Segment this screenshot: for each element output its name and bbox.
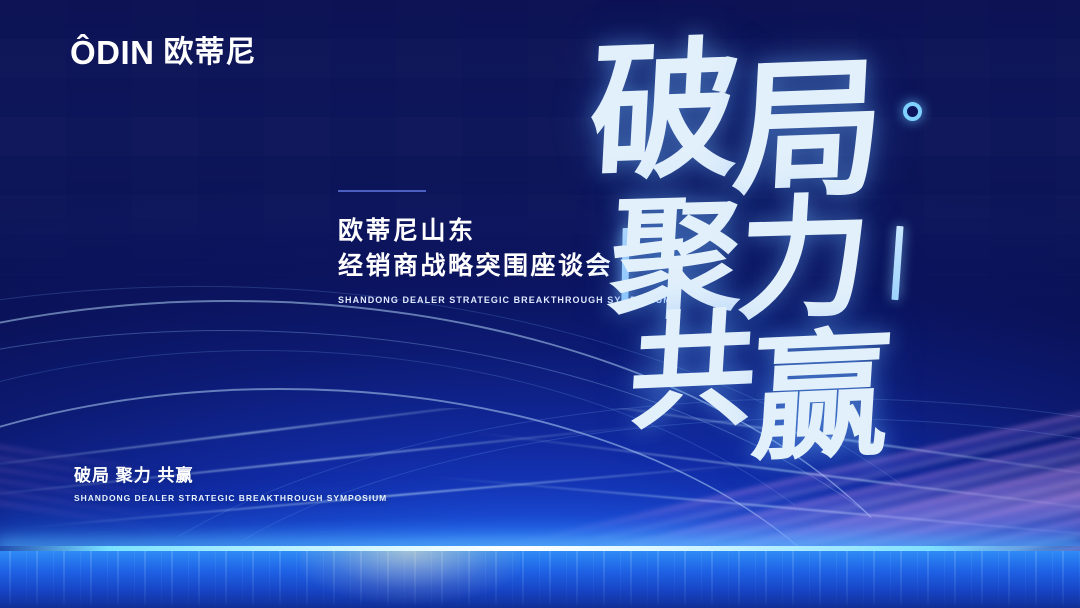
- headline-char-gong: 共: [627, 316, 756, 427]
- headline-char-ying: 赢: [748, 337, 890, 459]
- headline-char-po: 破: [587, 48, 738, 179]
- headline-calligraphy: 破 局 聚 力 共 赢: [560, 40, 1010, 470]
- headline-char-ju: 局: [731, 66, 882, 197]
- brand-logo: ÔDIN 欧蒂尼: [70, 36, 257, 69]
- horizontal-rule-icon: [338, 190, 426, 192]
- brand-name-cn: 欧蒂尼: [164, 38, 257, 68]
- degree-circle-mark-icon: [903, 102, 922, 121]
- floor-streaks: [0, 551, 1080, 608]
- footer-slogan-cn: 破局 聚力 共赢: [74, 466, 387, 486]
- headline-row-3: 共 赢: [630, 340, 886, 456]
- headline-row-1: 破 局: [590, 50, 878, 176]
- odin-wordmark-icon: ÔDIN: [70, 36, 155, 69]
- vertical-bar-mark-right-icon: [891, 226, 903, 300]
- footer-slogan-en: SHANDONG DEALER STRATEGIC BREAKTHROUGH S…: [74, 493, 387, 503]
- floor-warm-glow: [300, 551, 520, 608]
- footer-slogan-block: 破局 聚力 共赢 SHANDONG DEALER STRATEGIC BREAK…: [74, 466, 387, 503]
- event-banner: ÔDIN 欧蒂尼 欧蒂尼山东 经销商战略突围座谈会 SHANDONG DEALE…: [0, 0, 1080, 608]
